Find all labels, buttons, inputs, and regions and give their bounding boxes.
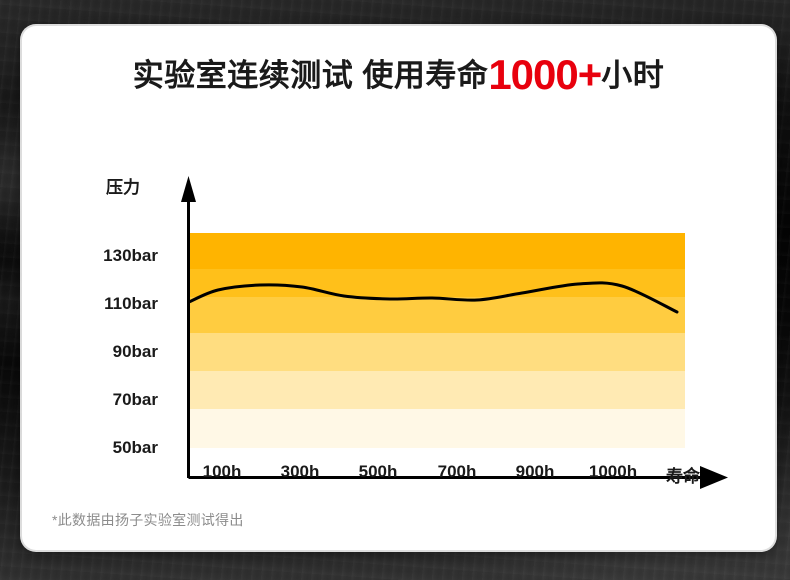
x-axis-tick-label: 500h	[359, 462, 398, 482]
y-axis-tick-label: 130bar	[38, 246, 158, 266]
x-axis-end-label: 寿命	[666, 462, 700, 487]
x-axis-tick-label: 100h	[203, 462, 242, 482]
y-axis-tick-label: 50bar	[38, 438, 158, 458]
pressure-band	[189, 233, 685, 269]
pressure-band	[189, 371, 685, 409]
x-axis-tick-label: 700h	[438, 462, 477, 482]
y-axis-arrowhead	[181, 176, 196, 202]
pressure-lifespan-chart: 压力 130bar110bar90bar70bar50bar 100h300h5…	[22, 26, 775, 550]
y-axis-tick-label: 70bar	[38, 390, 158, 410]
pressure-band-group	[189, 233, 685, 448]
pressure-band	[189, 297, 685, 333]
x-axis-tick-label: 1000h	[589, 462, 637, 482]
pressure-band	[189, 409, 685, 448]
y-axis-tick-label: 110bar	[38, 294, 158, 314]
footnote-text: *此数据由扬子实验室测试得出	[52, 510, 244, 530]
x-axis-tick-label: 900h	[516, 462, 555, 482]
content-card: 实验室连续测试 使用寿命1000+小时 压力 130bar110bar90bar…	[22, 26, 775, 550]
y-axis-tick-label: 90bar	[38, 342, 158, 362]
x-axis-tick-label: 300h	[281, 462, 320, 482]
x-axis-tick-labels: 100h300h500h700h900h1000h寿命	[22, 462, 775, 492]
pressure-band	[189, 333, 685, 371]
